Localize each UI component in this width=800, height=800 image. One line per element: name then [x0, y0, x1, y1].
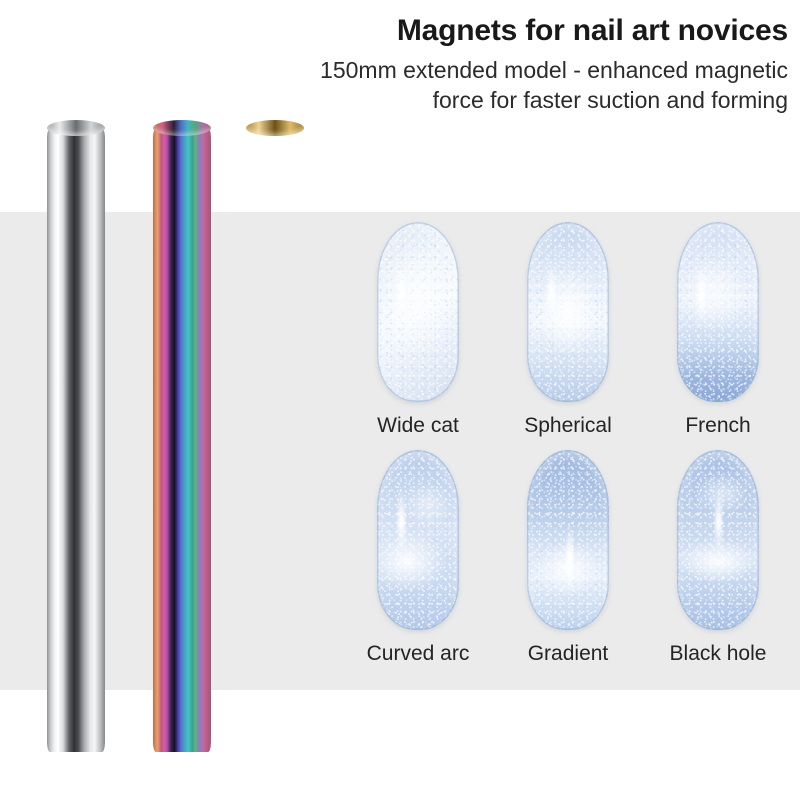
nail-edge [677, 450, 759, 630]
page-title: Magnets for nail art novices [272, 14, 788, 48]
gold-magnet-pen [246, 120, 304, 752]
nail-shape [677, 222, 759, 402]
page-subtitle: 150mm extended model - enhanced magnetic… [272, 55, 788, 116]
nail-swatch-gradient: Gradient [495, 450, 641, 666]
silver-magnet-pen [47, 120, 105, 752]
nail-swatch-grid: Wide cat Spherical French [345, 222, 795, 672]
nail-swatch-label: Wide cat [345, 414, 491, 438]
nail-shape [527, 450, 609, 630]
nail-shape [677, 450, 759, 630]
silver-pen-body [47, 128, 105, 752]
silver-pen-cap [47, 120, 105, 136]
nail-swatch-label: Spherical [495, 414, 641, 438]
product-marketing-image: Magnets for nail art novices 150mm exten… [0, 0, 800, 800]
nail-edge [527, 450, 609, 630]
nail-edge [377, 450, 459, 630]
nail-swatch-wide-cat: Wide cat [345, 222, 491, 438]
nail-edge [527, 222, 609, 402]
nail-swatch-label: Gradient [495, 642, 641, 666]
rainbow-pen-body [153, 128, 211, 752]
nail-edge [377, 222, 459, 402]
nail-edge [677, 222, 759, 402]
rainbow-pen-cap [153, 120, 211, 136]
nail-shape [377, 222, 459, 402]
headline-block: Magnets for nail art novices 150mm exten… [272, 14, 788, 115]
nail-swatch-label: Black hole [645, 642, 791, 666]
nail-shape [527, 222, 609, 402]
gold-pen-body [246, 128, 304, 752]
nail-shape [377, 450, 459, 630]
nail-swatch-label: Curved arc [345, 642, 491, 666]
nail-swatch-black-hole: Black hole [645, 450, 791, 666]
nail-swatch-label: French [645, 414, 791, 438]
rainbow-magnet-pen [153, 120, 211, 752]
nail-swatch-curved-arc: Curved arc [345, 450, 491, 666]
nail-swatch-spherical: Spherical [495, 222, 641, 438]
nail-swatch-french: French [645, 222, 791, 438]
gold-pen-cap [246, 120, 304, 136]
